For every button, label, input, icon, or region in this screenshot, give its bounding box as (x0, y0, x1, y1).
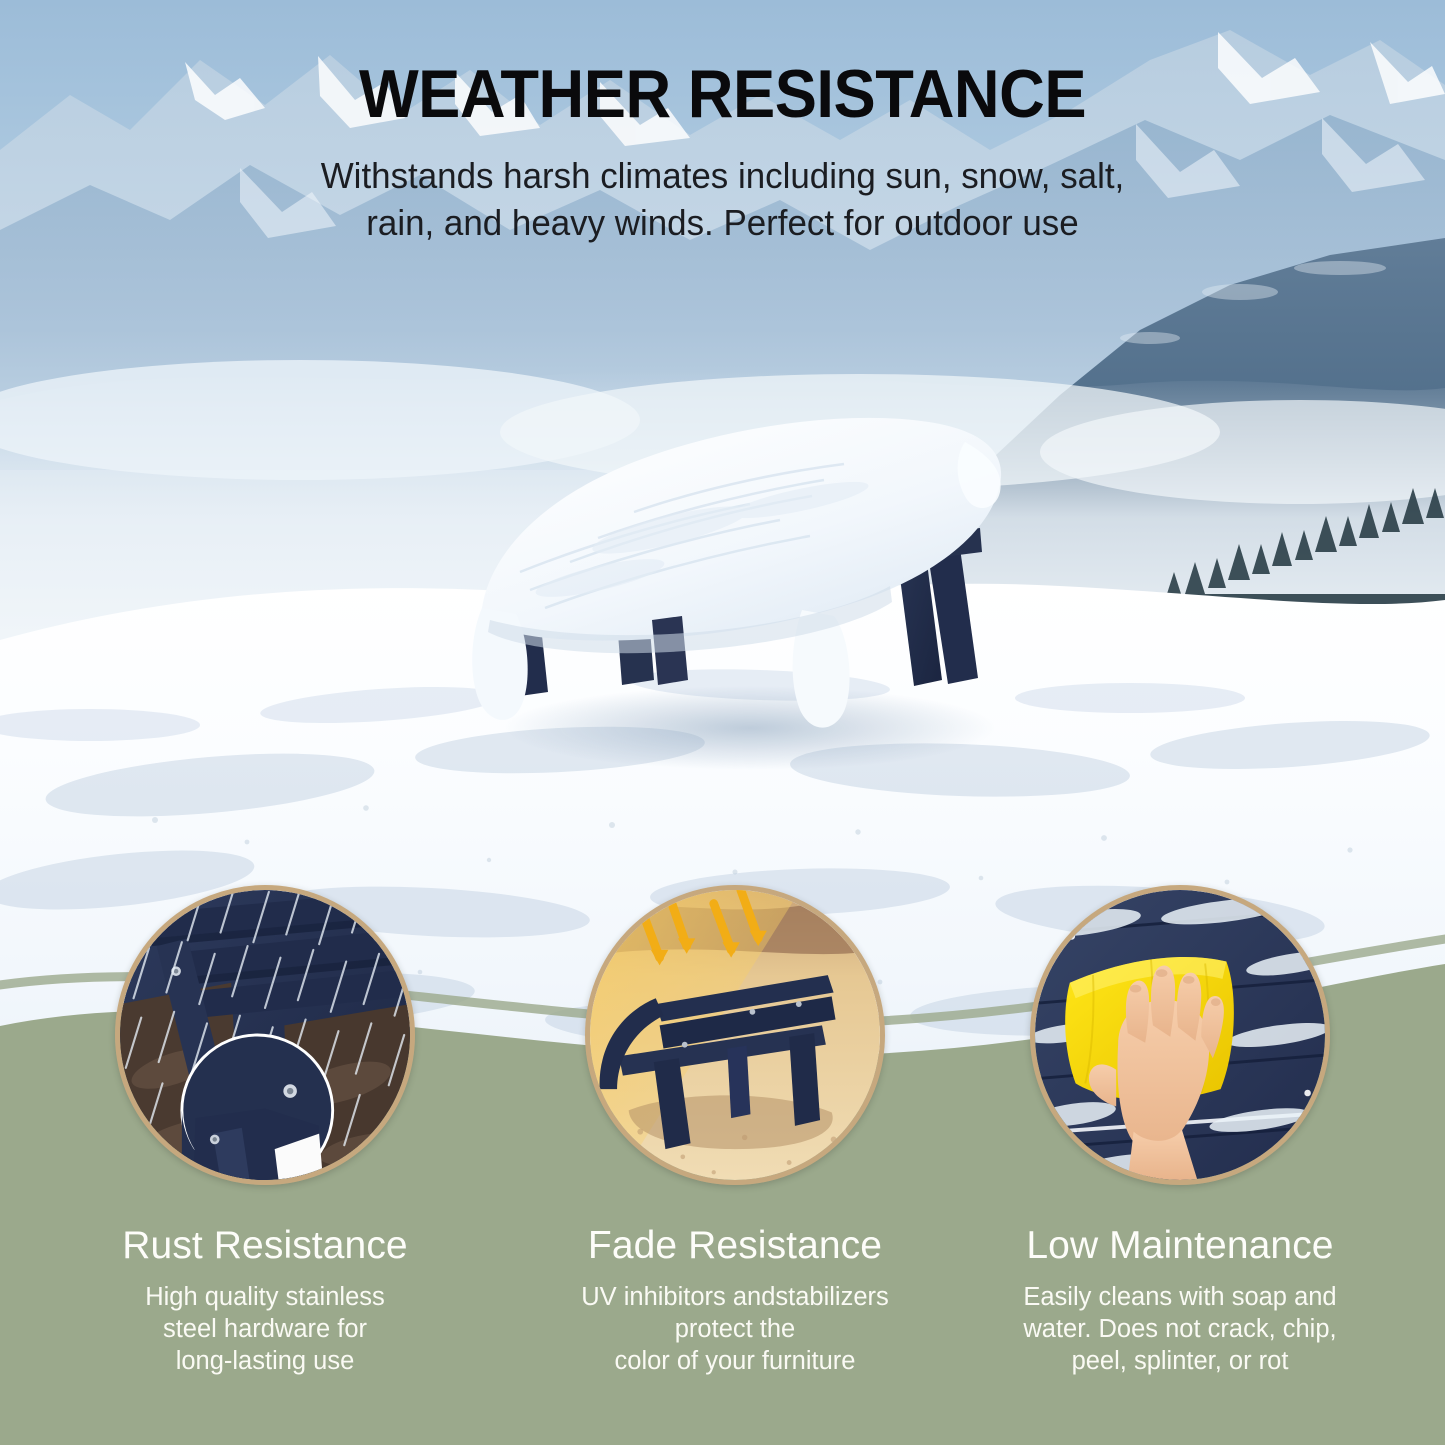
desc-line-3: peel, splinter, or rot (1000, 1346, 1360, 1378)
subtitle-line-2: rain, and heavy winds. Perfect for outdo… (22, 200, 1424, 247)
hand-wiping-bench-with-yellow-cloth-icon (1030, 885, 1330, 1185)
desc-line-3: long-lasting use (85, 1346, 445, 1378)
feature-card-low-maintenance: Low Maintenance Easily cleans with soap … (1000, 1225, 1360, 1378)
bench-on-sunny-beach-icon (585, 885, 885, 1185)
feature-description: High quality stainless steel hardware fo… (85, 1282, 445, 1378)
page-subtitle: Withstands harsh climates including sun,… (22, 153, 1424, 247)
desc-line-3: color of your furniture (555, 1346, 915, 1378)
feature-card-rust-resistance: Rust Resistance High quality stainless s… (85, 1225, 445, 1378)
desc-line-2: protect the (555, 1314, 915, 1346)
hero-snow-covered-bench (420, 380, 1040, 780)
feature-title: Rust Resistance (85, 1225, 445, 1268)
feature-title: Fade Resistance (555, 1225, 915, 1268)
feature-description: UV inhibitors andstabilizers protect the… (555, 1282, 915, 1378)
header-block: WEATHER RESISTANCE Withstands harsh clim… (0, 60, 1445, 247)
feature-title: Low Maintenance (1000, 1225, 1360, 1268)
desc-line-1: UV inhibitors andstabilizers (555, 1282, 915, 1314)
desc-line-1: High quality stainless (85, 1282, 445, 1314)
desc-line-1: Easily cleans with soap and (1000, 1282, 1360, 1314)
feature-card-fade-resistance: Fade Resistance UV inhibitors andstabili… (555, 1225, 915, 1378)
rain-on-bench-with-screw-closeup-icon (115, 885, 415, 1185)
desc-line-2: steel hardware for (85, 1314, 445, 1346)
feature-description: Easily cleans with soap and water. Does … (1000, 1282, 1360, 1378)
infographic-page: WEATHER RESISTANCE Withstands harsh clim… (0, 0, 1445, 1445)
page-title: WEATHER RESISTANCE (51, 60, 1395, 129)
desc-line-2: water. Does not crack, chip, (1000, 1314, 1360, 1346)
subtitle-line-1: Withstands harsh climates including sun,… (22, 153, 1424, 200)
